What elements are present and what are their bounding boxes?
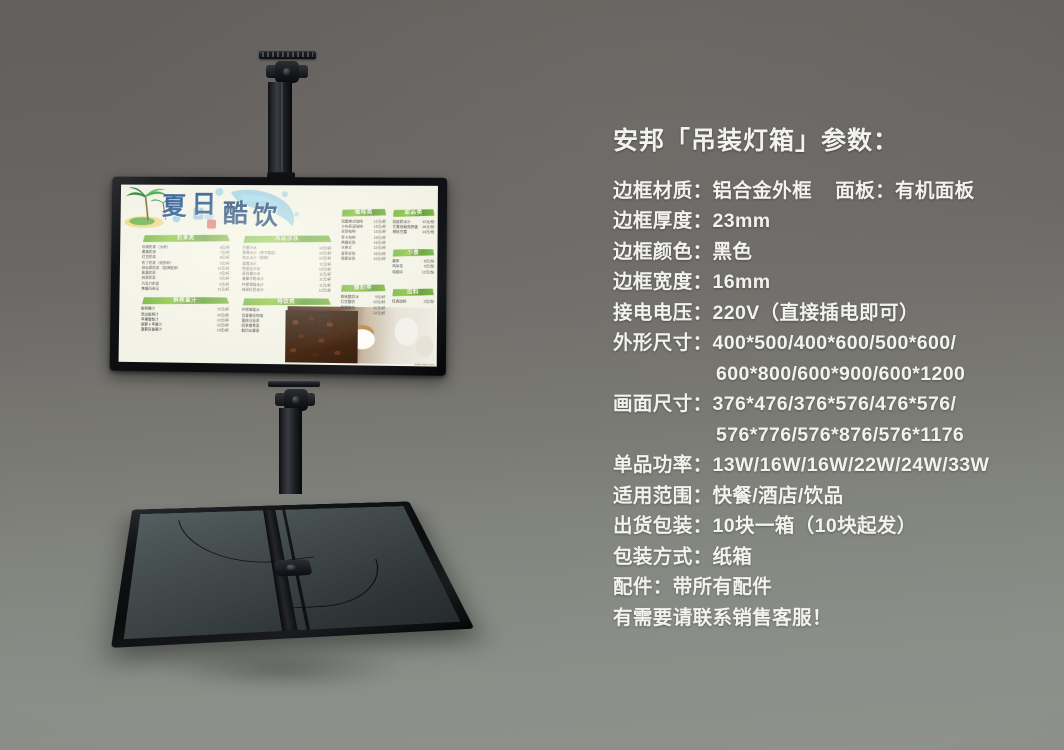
section-header: 鲜榨果汁	[141, 296, 229, 305]
menu-section: 咖啡类 现磨美式咖啡12元/杯 卡布奇诺咖啡15元/杯 拿铁咖啡15元/杯 摩卡…	[341, 209, 386, 262]
section-items: 双皮奶冰沙12元/份 芒果班戟双拼盘16元/份 杨枝甘露14元/份	[392, 220, 434, 236]
section-header: 咖啡类	[341, 209, 386, 217]
section-header: 甜品类	[393, 209, 435, 217]
menu-section: 特饮类 柠檬蜂蜜水10元/杯 百香果双响炮12元/杯 蜜桃乌龙茶12元/杯 四季…	[241, 297, 330, 335]
menu-title-char-2: 日	[191, 193, 216, 218]
spec-line-application: 适用范围：快餐/酒店/饮品	[613, 481, 1053, 512]
spec-line-accessories: 配件：带所有配件	[613, 572, 1053, 603]
section-items: 芒果沙冰10元/杯 草莓冰沙（季节限定）10元/杯 西瓜冰沙（鲜榨）10元/杯 …	[242, 245, 331, 294]
menu-section: 小食 薯条8元/份 鸡米花9元/份 鸡翅中12元/份	[392, 249, 434, 276]
spec-line-voltage: 接电电压：220V（直接插电即可）	[613, 298, 1053, 329]
section-header: 奶茶类	[142, 234, 230, 243]
menu-section: 奶茶类 珍珠奶茶（大杯）8元/杯 椰果奶茶7元/杯 红豆奶茶8元/杯 布丁奶茶（…	[141, 234, 230, 293]
item-name: 任选加料	[392, 299, 407, 305]
spec-line-frame-material: 边框材质：铝合金外框 面板：有机面板	[613, 176, 1053, 207]
item-name: 抹茶红豆冰沙	[242, 288, 264, 294]
knuckle-bolt	[283, 68, 291, 76]
item-price: 2元/份	[420, 299, 433, 305]
item-price: 12元/杯	[316, 288, 331, 293]
section-items: 珍珠奶茶（大杯）8元/杯 椰果奶茶7元/杯 红豆奶茶8元/杯 布丁奶茶（双拼杯）…	[141, 245, 229, 293]
section-header: 小食	[392, 249, 434, 257]
menu-title-char-3: 酷	[223, 202, 248, 227]
menu-section: 加料 任选加料2元/份	[392, 288, 434, 304]
menu-title: 夏 日 酷 饮	[162, 193, 311, 230]
menu-panel: 夏 日 酷 饮 奶茶类 珍珠奶茶（大杯）8元/杯 椰果奶茶7元/杯 红豆奶茶8元…	[119, 185, 438, 367]
menu-row: 抹茶红豆冰沙12元/杯	[242, 288, 331, 294]
spec-line-frame-color: 边框颜色：黑色	[613, 237, 1053, 268]
menu-credit: www.nipic.com	[415, 363, 435, 366]
menu-artwork: 夏 日 酷 饮 奶茶类 珍珠奶茶（大杯）8元/杯 椰果奶茶7元/杯 红豆奶茶8元…	[119, 185, 438, 367]
menu-row: 鲜切水果茶14元/杯	[241, 329, 330, 335]
item-name: 焦糖玛奇朵	[141, 287, 159, 292]
menu-section: 甜品类 双皮奶冰沙12元/份 芒果班戟双拼盘16元/份 杨枝甘露14元/份	[392, 209, 434, 236]
drop-pole-bottom	[279, 408, 302, 494]
section-header: 加料	[392, 288, 434, 297]
section-items: 任选加料2元/份	[392, 299, 434, 305]
drop-pole-seam	[281, 82, 283, 186]
menu-row: 鸡翅中12元/份	[392, 270, 434, 276]
section-header: 酸奶类	[341, 284, 386, 293]
spec-title: 安邦「吊装灯箱」参数：	[613, 128, 1053, 156]
spec-line-frame-thickness: 边框厚度：23mm	[613, 206, 1053, 237]
spec-line-outer-size: 外形尺寸：400*500/400*600/500*600/	[613, 328, 1053, 359]
section-header-label: 鲜榨果汁	[141, 296, 229, 305]
light-box-rear	[111, 501, 474, 647]
item-price: 11元/杯	[214, 287, 229, 292]
pole-clamp-joint	[273, 559, 312, 576]
spec-line-power: 单品功率：13W/16W/16W/22W/24W/33W	[613, 450, 1053, 481]
spec-line-shipping-pack: 出货包装：10块一箱（10块起发）	[613, 511, 1053, 542]
item-name: 榛果拿铁	[341, 256, 356, 261]
item-price: 12元/杯	[370, 311, 385, 317]
pivot-knuckle-top	[265, 58, 309, 84]
menu-row: 杨枝甘露14元/份	[392, 230, 434, 236]
item-price: 14元/份	[419, 230, 434, 235]
item-price: 12元/份	[419, 270, 434, 275]
section-header-label: 小食	[392, 249, 434, 257]
spec-line-frame-width: 边框宽度：16mm	[613, 267, 1053, 298]
section-header-label: 奶茶类	[142, 234, 230, 243]
spec-line-picture-size-cont: 576*776/576*876/576*1176	[613, 420, 1053, 451]
section-header-label: 酸奶类	[341, 284, 386, 293]
section-items: 薯条8元/份 鸡米花9元/份 鸡翅中12元/份	[392, 259, 434, 275]
section-header: 冰品沙冰	[243, 235, 332, 244]
spec-line-picture-size: 画面尺寸：376*476/376*576/476*576/	[613, 389, 1053, 420]
item-name: 杨枝甘露	[392, 230, 407, 235]
ceiling-plate-holes	[262, 52, 313, 57]
section-header: 特饮类	[242, 297, 331, 306]
menu-section: 酸奶类 原味酸奶冰9元/杯 红豆酸奶10元/杯 草莓酸奶11元/杯 芒果酸奶昔1…	[340, 284, 385, 316]
section-items: 现磨美式咖啡12元/杯 卡布奇诺咖啡15元/杯 拿铁咖啡15元/杯 摩卡咖啡16…	[341, 219, 386, 262]
product-floor-shadow	[118, 640, 448, 698]
menu-section: 冰品沙冰 芒果沙冰10元/杯 草莓冰沙（季节限定）10元/杯 西瓜冰沙（鲜榨）1…	[242, 235, 332, 294]
knuckle-bolt	[292, 396, 300, 404]
spec-line-packing-method: 包装方式：纸箱	[613, 542, 1053, 573]
item-price: 14元/杯	[315, 330, 330, 336]
light-box-front: 夏 日 酷 饮 奶茶类 珍珠奶茶（大杯）8元/杯 椰果奶茶7元/杯 红豆奶茶8元…	[110, 177, 448, 376]
item-name: 菠萝百香果汁	[141, 328, 162, 334]
section-header-label: 甜品类	[393, 209, 435, 217]
drop-pole-top	[268, 82, 292, 186]
section-items: 鲜榨橙汁12元/杯 西瓜鲜榨汁10元/杯 苹果雪梨汁12元/杯 胡萝卜苹果汁12…	[141, 307, 229, 334]
item-name: 芒果酸奶昔	[340, 311, 358, 317]
spec-line-outer-size-cont: 600*800/600*900/600*1200	[613, 359, 1053, 390]
menu-row: 芒果酸奶昔12元/杯	[340, 311, 385, 317]
menu-row: 焦糖玛奇朵11元/杯	[141, 287, 229, 293]
clamp-bolt	[285, 564, 297, 571]
item-price: 16元/杯	[370, 257, 385, 262]
menu-title-char-4: 饮	[253, 204, 278, 229]
item-name: 鲜切水果茶	[241, 329, 259, 335]
item-name: 鸡翅中	[392, 270, 403, 275]
menu-section: 鲜榨果汁 鲜榨橙汁12元/杯 西瓜鲜榨汁10元/杯 苹果雪梨汁12元/杯 胡萝卜…	[141, 296, 229, 334]
section-header-label: 冰品沙冰	[243, 235, 332, 244]
section-header-label: 咖啡类	[341, 209, 386, 217]
section-items: 原味酸奶冰9元/杯 红豆酸奶10元/杯 草莓酸奶11元/杯 芒果酸奶昔12元/杯	[340, 295, 385, 317]
section-header-label: 特饮类	[242, 297, 331, 306]
item-price: 13元/杯	[214, 329, 229, 334]
menu-row: 任选加料2元/份	[392, 299, 434, 305]
menu-row: 菠萝百香果汁13元/杯	[141, 328, 229, 334]
section-items: 柠檬蜂蜜水10元/杯 百香果双响炮12元/杯 蜜桃乌龙茶12元/杯 四季春青茶1…	[241, 308, 330, 336]
menu-title-char-1: 夏	[162, 195, 187, 220]
menu-row: 榛果拿铁16元/杯	[341, 256, 386, 262]
specification-panel: 安邦「吊装灯箱」参数： 边框材质：铝合金外框 面板：有机面板 边框厚度：23mm…	[613, 128, 1053, 633]
spec-line-contact: 有需要请联系销售客服！	[613, 603, 1053, 634]
section-header-label: 加料	[392, 288, 434, 297]
